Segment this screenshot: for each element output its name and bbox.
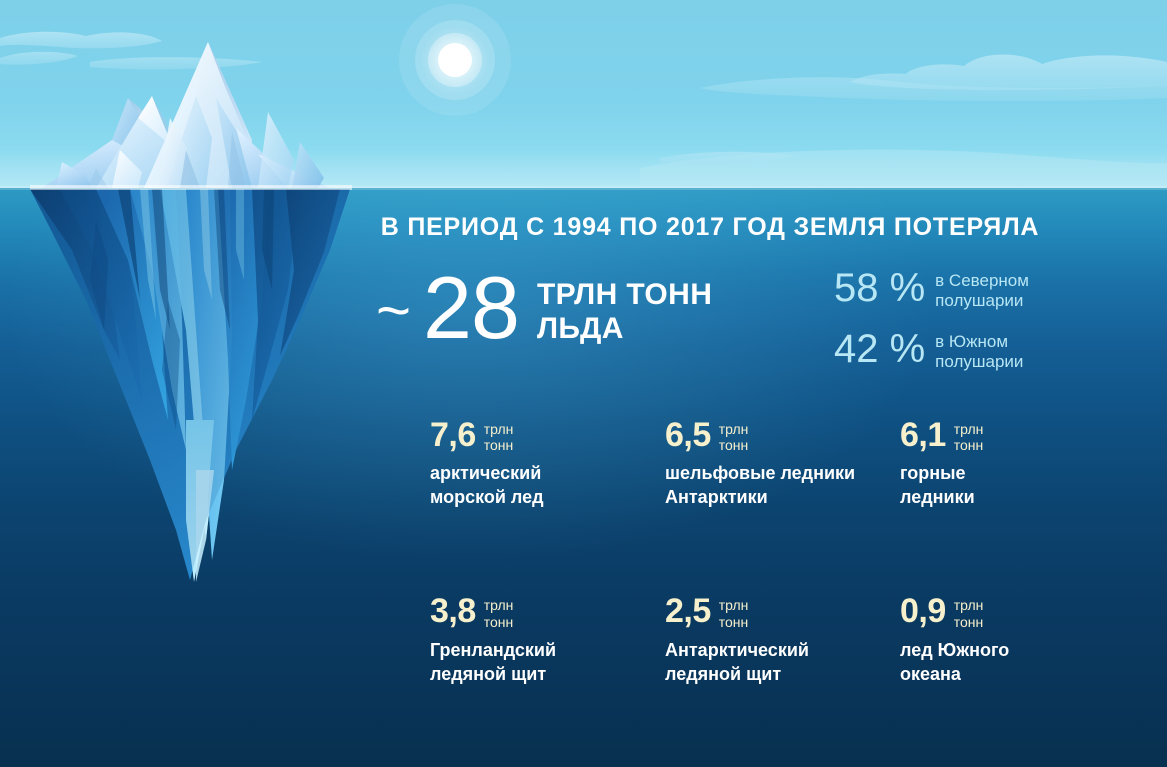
stat-value: 0,9 [900, 594, 946, 628]
hemisphere-north-label-line2: полушарии [935, 291, 1029, 311]
stat-item-antarctic-ice-sheet: 2,5 трлн тонн Антарктический ледяной щит [665, 594, 900, 686]
hemisphere-south-label-line1: в Южном [935, 332, 1023, 352]
stat-label: лед Южного океана [900, 639, 1130, 687]
stat-label-line2: ледяной щит [430, 663, 665, 687]
stat-unit-line2: тонн [954, 614, 984, 630]
text-content-layer: В ПЕРИОД С 1994 ПО 2017 ГОД ЗЕМЛЯ ПОТЕРЯ… [0, 0, 1167, 767]
stat-value-group: 2,5 трлн тонн [665, 594, 900, 629]
stat-unit: трлн тонн [484, 421, 514, 453]
main-figure-value: 28 [423, 268, 519, 349]
stat-label: Гренландский ледяной щит [430, 639, 665, 687]
stat-unit-line2: тонн [719, 437, 749, 453]
statistics-row-1: 7,6 трлн тонн арктический морской лед 6,… [430, 418, 1130, 510]
stat-unit-line1: трлн [954, 597, 984, 613]
stat-label-line2: морской лед [430, 486, 665, 510]
stat-label-line2: ледники [900, 486, 1130, 510]
hemisphere-south-percent: 42 % [834, 329, 925, 369]
main-figure: ~ 28 ТРЛН ТОНН ЛЬДА [376, 268, 712, 349]
stat-value: 6,1 [900, 418, 946, 452]
stat-label: арктический морской лед [430, 462, 665, 510]
stat-value-group: 6,5 трлн тонн [665, 418, 900, 453]
stat-label-line1: лед Южного [900, 639, 1130, 663]
stat-value: 3,8 [430, 594, 476, 628]
stat-unit-line2: тонн [954, 437, 984, 453]
stat-label-line1: горные [900, 462, 1130, 486]
infographic-poster: В ПЕРИОД С 1994 ПО 2017 ГОД ЗЕМЛЯ ПОТЕРЯ… [0, 0, 1167, 767]
stat-unit: трлн тонн [719, 421, 749, 453]
stat-label: Антарктический ледяной щит [665, 639, 900, 687]
stat-unit-line1: трлн [954, 421, 984, 437]
main-figure-unit: ТРЛН ТОНН ЛЬДА [537, 278, 712, 346]
stat-unit: трлн тонн [719, 597, 749, 629]
stat-label-line2: Антарктики [665, 486, 900, 510]
stat-value-group: 0,9 трлн тонн [900, 594, 1130, 629]
stat-item-antarctic-shelf-glaciers: 6,5 трлн тонн шельфовые ледники Антаркти… [665, 418, 900, 510]
hemisphere-north: 58 % в Северном полушарии [834, 268, 1029, 311]
stat-item-arctic-sea-ice: 7,6 трлн тонн арктический морской лед [430, 418, 665, 510]
stat-item-mountain-glaciers: 6,1 трлн тонн горные ледники [900, 418, 1130, 510]
stat-label-line1: арктический [430, 462, 665, 486]
stat-unit-line1: трлн [719, 421, 749, 437]
stat-unit: трлн тонн [954, 597, 984, 629]
hemisphere-north-percent: 58 % [834, 268, 925, 308]
stat-value-group: 7,6 трлн тонн [430, 418, 665, 453]
stat-item-greenland-ice-sheet: 3,8 трлн тонн Гренландский ледяной щит [430, 594, 665, 686]
main-figure-unit-line1: ТРЛН ТОНН [537, 278, 712, 312]
main-figure-unit-line2: ЛЬДА [537, 312, 712, 346]
stat-value: 2,5 [665, 594, 711, 628]
page-title: В ПЕРИОД С 1994 ПО 2017 ГОД ЗЕМЛЯ ПОТЕРЯ… [370, 213, 1050, 242]
stat-label-line2: ледяной щит [665, 663, 900, 687]
stat-value: 7,6 [430, 418, 476, 452]
hemisphere-south-label: в Южном полушарии [935, 332, 1023, 372]
statistics-row-2: 3,8 трлн тонн Гренландский ледяной щит 2… [430, 594, 1130, 686]
stat-unit-line1: трлн [484, 421, 514, 437]
hemisphere-south-label-line2: полушарии [935, 352, 1023, 372]
hemisphere-breakdown: 58 % в Северном полушарии 42 % в Южном п… [834, 268, 1029, 390]
stat-unit-line2: тонн [719, 614, 749, 630]
stat-label-line1: Антарктический [665, 639, 900, 663]
stat-label-line1: Гренландский [430, 639, 665, 663]
stat-unit: трлн тонн [954, 421, 984, 453]
stat-value-group: 3,8 трлн тонн [430, 594, 665, 629]
stat-label-line2: океана [900, 663, 1130, 687]
stat-unit-line1: трлн [719, 597, 749, 613]
stat-label: шельфовые ледники Антарктики [665, 462, 900, 510]
stat-item-southern-ocean-ice: 0,9 трлн тонн лед Южного океана [900, 594, 1130, 686]
hemisphere-north-label-line1: в Северном [935, 271, 1029, 291]
hemisphere-south: 42 % в Южном полушарии [834, 329, 1029, 372]
stat-label: горные ледники [900, 462, 1130, 510]
stat-unit-line2: тонн [484, 614, 514, 630]
stat-unit-line2: тонн [484, 437, 514, 453]
statistics-grid: 7,6 трлн тонн арктический морской лед 6,… [430, 418, 1130, 687]
approx-symbol: ~ [376, 282, 411, 339]
stat-value: 6,5 [665, 418, 711, 452]
stat-unit: трлн тонн [484, 597, 514, 629]
stat-label-line1: шельфовые ледники [665, 462, 900, 486]
stat-unit-line1: трлн [484, 597, 514, 613]
hemisphere-north-label: в Северном полушарии [935, 271, 1029, 311]
stat-value-group: 6,1 трлн тонн [900, 418, 1130, 453]
